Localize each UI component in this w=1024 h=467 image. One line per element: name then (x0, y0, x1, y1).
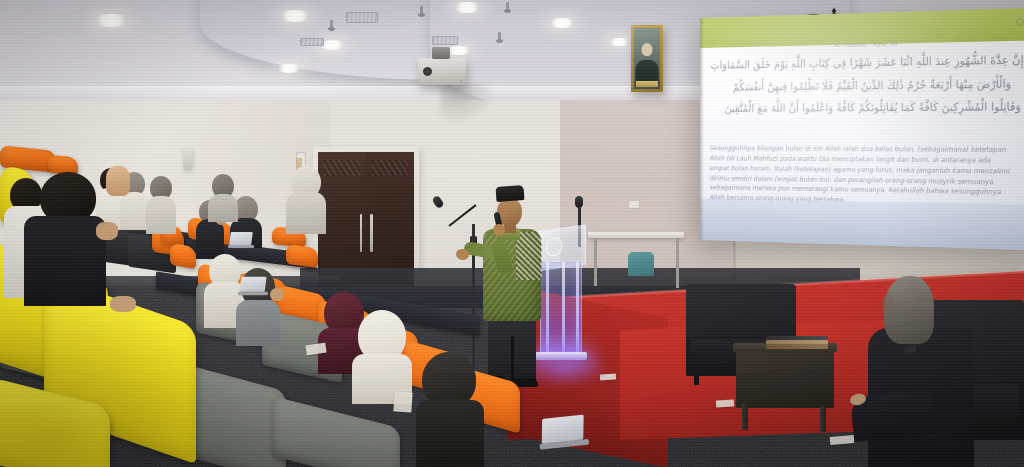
audience-13-body (286, 192, 326, 234)
photograph-scene: ▪ Ove (0, 0, 1024, 467)
book-stack (766, 336, 828, 350)
speaker-peci-cap (496, 185, 525, 202)
laptop-1[interactable] (228, 232, 254, 248)
audience-15-body (208, 194, 238, 222)
audience-9-hand (270, 288, 284, 301)
door-handle-left[interactable] (360, 214, 363, 252)
wall-socket-plate (628, 200, 640, 209)
audience-3-body (146, 196, 176, 234)
downlight-2 (278, 10, 312, 22)
teal-stool-chair (628, 252, 654, 276)
audience-4-body (196, 219, 224, 259)
laptop-2[interactable] (238, 277, 268, 295)
speaker-leg-gap (511, 336, 514, 380)
audience-6-hand-clapping (96, 222, 118, 240)
side-table-leg-1 (742, 404, 748, 430)
sprinkler-head-1 (330, 20, 333, 29)
portrait-subject-head (642, 43, 653, 56)
door-handle-right[interactable] (370, 214, 373, 252)
audience-7-raised-hands (106, 166, 130, 196)
projector-brand-label: ▪ (460, 78, 462, 83)
speaker-hand-on-mic (493, 224, 505, 236)
seated-guest-face (882, 294, 894, 316)
audience-6-hand-resting (110, 296, 136, 312)
audience-paper-2 (393, 391, 412, 412)
armchair-left-leg-1 (694, 375, 699, 385)
side-table-leg-2 (820, 406, 826, 432)
armchair-left-backrest (686, 284, 796, 337)
paper-slip-2 (716, 400, 734, 408)
slide-surface: Over At-Taubah : Ayat 36 إِنَّ عِدَّةَ ا… (700, 7, 1024, 251)
downlight-9 (608, 38, 630, 46)
arabic-line-2: وَالْأَرْضَ مِنْهَا أَرْبَعَةٌ حُرُمٌ ذَ… (722, 73, 1023, 99)
door-panel-carving-right (372, 160, 408, 176)
podium-rail-2 (562, 262, 565, 354)
portrait-photo (634, 28, 660, 89)
sprinkler-head-3 (498, 32, 501, 41)
downlight-3 (276, 64, 302, 73)
audience-member-11 (352, 310, 412, 402)
screen-left-edge (700, 18, 704, 240)
downlight-1 (92, 14, 130, 27)
door-panel-carving-left (324, 160, 360, 176)
back-table-leg-1 (594, 238, 597, 286)
downlight-5 (452, 2, 482, 13)
side-table (736, 348, 834, 408)
laptop-2-screen (239, 277, 266, 292)
audience-member-13 (286, 166, 326, 232)
arabic-line-3: وَقَاتِلُوا الْمُشْرِكِينَ كَافَّةً كَمَ… (722, 96, 1023, 120)
projector-shadow (440, 84, 496, 124)
audience-member-7 (100, 166, 136, 218)
laptop-1-screen (229, 232, 253, 245)
ceiling-air-vent-3 (432, 36, 458, 45)
banner-overlay-text: Over (1016, 16, 1024, 28)
speaker-shirt-pattern-panel (516, 232, 542, 280)
projection-screen: Over At-Taubah : Ayat 36 إِنَّ عِدَّةَ ا… (700, 7, 1024, 251)
ceiling-projector: ▪ (418, 58, 466, 85)
back-table-top (588, 232, 684, 238)
downlight-7 (548, 18, 576, 28)
audience-9-body (236, 300, 280, 346)
seated-guest-person (862, 276, 982, 467)
framed-portrait (631, 25, 663, 92)
audience-12-body (416, 400, 484, 467)
portrait-nameplate (636, 81, 658, 87)
laptop-1-keyboard (228, 245, 254, 248)
slide-arabic-verse: إِنَّ عِدَّةَ الشُّهُورِ عِندَ اللَّهِ ا… (712, 49, 1024, 120)
sprinkler-head-2 (420, 6, 423, 15)
podium-rail-3 (576, 262, 579, 354)
ceiling-air-vent-2 (300, 38, 324, 46)
audience-member-6 (24, 172, 106, 304)
projector-lens (423, 67, 432, 76)
book-3 (766, 344, 828, 349)
audience-member-12 (416, 352, 484, 467)
wall-speaker (183, 148, 192, 170)
back-table-leg-2 (676, 238, 679, 288)
laptop-2-keyboard (238, 292, 268, 295)
audience-member-15 (208, 174, 238, 220)
audience-member-3 (146, 176, 176, 232)
sprinkler-head-4 (506, 2, 509, 11)
audience-6-body (24, 216, 106, 306)
laptop-3[interactable] (537, 414, 589, 449)
ceiling-air-vent-1 (346, 12, 378, 23)
